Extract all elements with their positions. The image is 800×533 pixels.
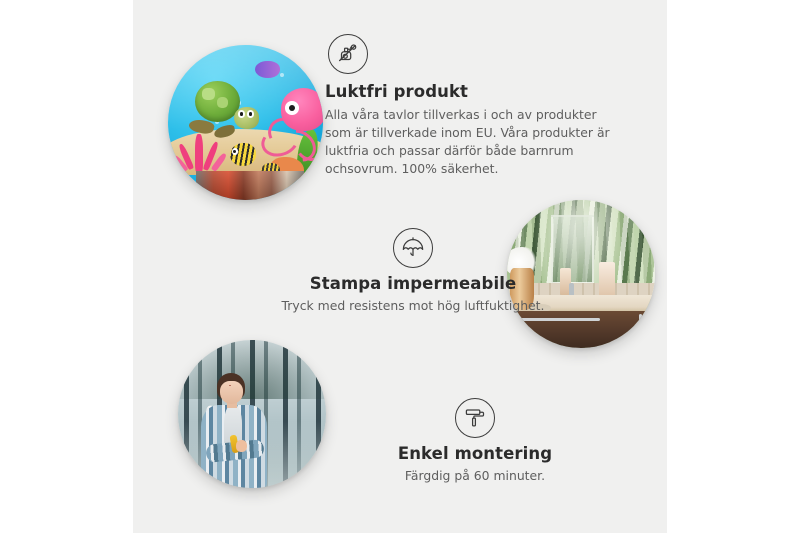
sea-scene: [168, 45, 323, 200]
feature-title: Stampa impermeabile: [223, 274, 603, 293]
forest-scene: [178, 340, 326, 488]
octopus-eye: [285, 101, 299, 115]
face: [220, 381, 243, 404]
woman-with-roller: [196, 373, 279, 488]
content-panel: Luktfri produkt Alla våra tavlor tillver…: [133, 0, 667, 533]
feature-odourless: Luktfri produkt Alla våra tavlor tillver…: [325, 34, 625, 178]
feature-title: Enkel montering: [325, 444, 625, 463]
paint-roller-icon: [455, 398, 495, 438]
fish-eye: [232, 148, 239, 155]
octopus-icon: [266, 88, 323, 156]
turtle-eye: [247, 110, 254, 118]
turtle-icon: [193, 79, 255, 130]
product-image-sea: [168, 45, 323, 200]
umbrella-icon: [393, 228, 433, 268]
feature-easy-mounting: Enkel montering Färgdig på 60 minuter.: [325, 398, 625, 485]
fish-icon: [255, 61, 280, 78]
product-image-forest: [178, 340, 326, 488]
feature-title: Luktfri produkt: [325, 82, 625, 101]
feature-waterproof: Stampa impermeabile Tryck med resistens …: [223, 228, 603, 315]
product-feature-banner: Luktfri produkt Alla våra tavlor tillver…: [0, 0, 800, 533]
hand: [236, 440, 248, 453]
vanity-cabinet: [507, 311, 655, 348]
fish-icon: [230, 143, 256, 166]
feature-body: Färgdig på 60 minuter.: [325, 467, 625, 485]
feature-body: Alla våra tavlor tillverkas i och av pro…: [325, 106, 617, 178]
sea-photo-strip: [196, 171, 305, 200]
no-fragrance-spray-icon: [328, 34, 368, 74]
turtle-eye: [238, 110, 245, 118]
smile: [229, 385, 231, 386]
bubble-icon: [280, 73, 284, 77]
feature-body: Tryck med resistens mot hög luftfuktighe…: [223, 297, 603, 315]
